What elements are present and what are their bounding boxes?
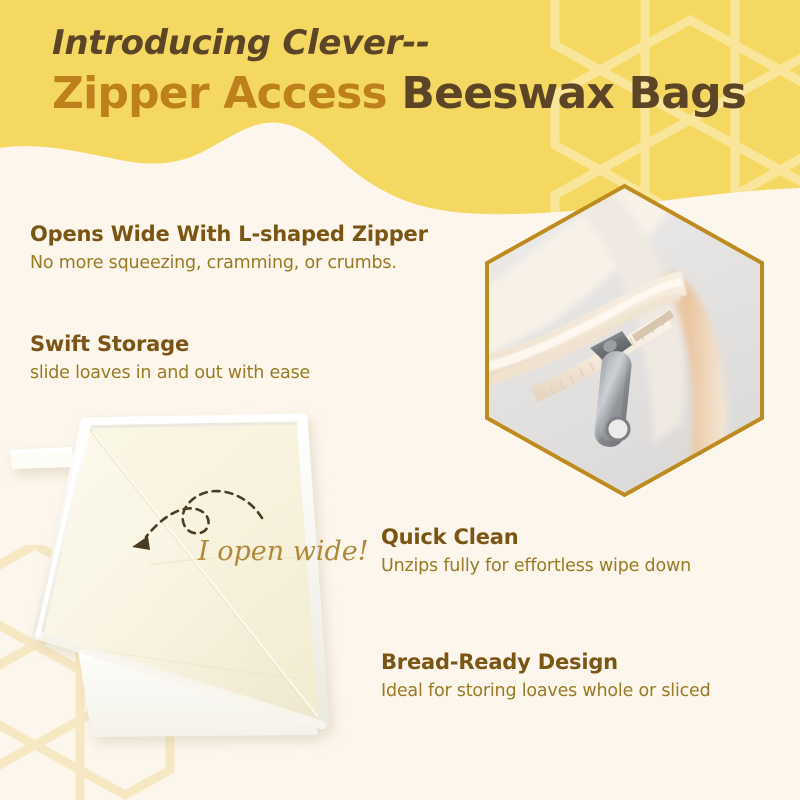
- infographic-root: Introducing Clever-- Zipper Access Beesw…: [0, 0, 800, 800]
- beeswax-bag-product-photo: I open wide!: [0, 405, 370, 800]
- title-rest: Beeswax Bags: [387, 68, 746, 119]
- feature-heading: Swift Storage: [30, 332, 310, 356]
- feature-subtitle: No more squeezing, cramming, or crumbs.: [30, 253, 428, 273]
- feature-heading: Bread-Ready Design: [381, 650, 711, 674]
- feature-swift-storage: Swift Storage slide loaves in and out wi…: [30, 332, 310, 383]
- hex-photo-content: [482, 183, 767, 498]
- bag-body: [10, 419, 324, 737]
- feature-subtitle: Ideal for storing loaves whole or sliced: [381, 681, 711, 701]
- feature-heading: Opens Wide With L-shaped Zipper: [30, 222, 428, 246]
- title-eyebrow: Introducing Clever--: [52, 24, 782, 63]
- feature-opens-wide: Opens Wide With L-shaped Zipper No more …: [30, 222, 428, 273]
- page-title: Introducing Clever-- Zipper Access Beesw…: [52, 24, 782, 120]
- feature-subtitle: Unzips fully for effortless wipe down: [381, 556, 691, 576]
- title-highlight: Zipper Access: [52, 68, 387, 119]
- bag-callout-text: I open wide!: [197, 536, 369, 567]
- zipper-closeup-hex-photo: [482, 183, 767, 498]
- feature-quick-clean: Quick Clean Unzips fully for effortless …: [381, 525, 691, 576]
- feature-bread-ready: Bread-Ready Design Ideal for storing loa…: [381, 650, 711, 701]
- feature-heading: Quick Clean: [381, 525, 691, 549]
- feature-subtitle: slide loaves in and out with ease: [30, 363, 310, 383]
- title-main: Zipper Access Beeswax Bags: [52, 69, 782, 120]
